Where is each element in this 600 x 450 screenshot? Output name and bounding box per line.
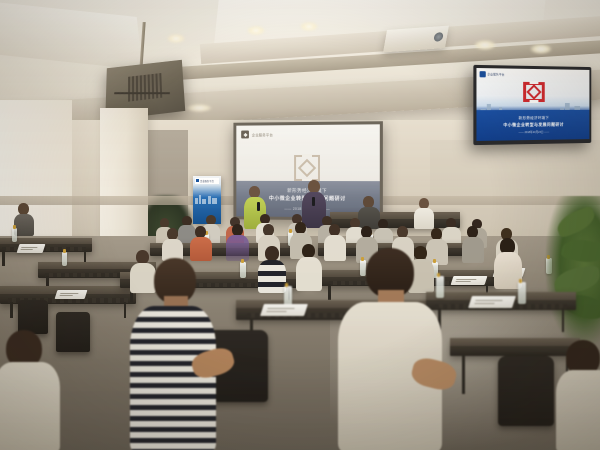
downlight [247,26,265,35]
wall-mounted-tv: 企业服务平台 新形势经济环境下 中小微企业转型与发展问题研讨 —— 2 [473,65,591,145]
attendee-left-foreground [0,330,60,450]
tv-date: —— 2018年10月24日 —— [519,130,550,134]
attendee-orange [190,226,212,260]
logo-mark-icon [241,130,249,138]
tv-corner-logo-text: 企业服务平台 [487,72,504,76]
projector-lens [433,32,444,42]
attendee-torso [0,362,60,450]
attendee-striped [258,246,286,292]
attendee-woman [494,238,522,288]
attendee [162,228,183,260]
slide-emblem-icon [294,155,320,181]
slide-corner-logo-text: 企业服务平台 [252,132,273,137]
slide-corner-logo: 企业服务平台 [241,130,273,138]
attendee [462,226,484,262]
banner-skyline-graphic [193,192,221,204]
attendee-torso [556,370,600,450]
attendee [296,244,322,290]
monitor-mount-bracket [128,73,162,102]
water-bottle [12,228,17,242]
handout-paper [260,304,308,316]
seminar-room-photo: 企业服务平台 新形势经济环境下 中小微企业转型与发展问题研讨 —— 2018年1… [0,0,600,450]
monitor-mount-arm [114,92,170,94]
tv-logo-mark-icon [479,71,485,77]
tv-title-line2: 中小微企业转型与发展问题研讨 [503,122,563,129]
foreground-chair [498,356,554,426]
attendee-purple [226,224,249,260]
handout-paper [17,244,46,253]
banner-logo-icon [196,179,199,182]
banner-header-text: 企业服务平台 [200,179,214,183]
attendee-torso [14,214,34,236]
tv-title-line1: 新形势经济环境下 [519,116,550,121]
handout-paper [55,290,88,299]
ceiling-projector [383,26,449,53]
downlight [167,34,185,43]
downlight [186,104,212,112]
attendee-right-foreground [556,340,600,450]
water-bottle [240,262,246,278]
water-bottle [518,282,526,304]
water-bottle [62,252,67,266]
panelist-right-torso [414,208,434,229]
empty-chair [56,312,90,352]
panelist-right [414,198,434,228]
tv-screen: 企业服务平台 新形势经济环境下 中小微企业转型与发展问题研讨 —— 2 [476,67,589,141]
downlight [530,44,552,54]
attendee-torso [130,306,216,450]
presenter-left-microphone [257,202,260,211]
downlight [474,40,496,50]
attendee-striped-polo [130,258,216,450]
handout-paper [451,276,488,285]
downlight [300,22,318,31]
handout-paper [468,296,516,308]
tv-corner-logo: 企业服务平台 [479,71,504,77]
attendee-left-aisle [14,203,34,235]
empty-chair [18,300,48,334]
attendee-cream-shirt [338,248,442,450]
tv-title-band: 新形势经济环境下 中小微企业转型与发展问题研讨 —— 2018年10月24日 —… [476,110,589,141]
presenter-center-microphone [312,197,315,206]
